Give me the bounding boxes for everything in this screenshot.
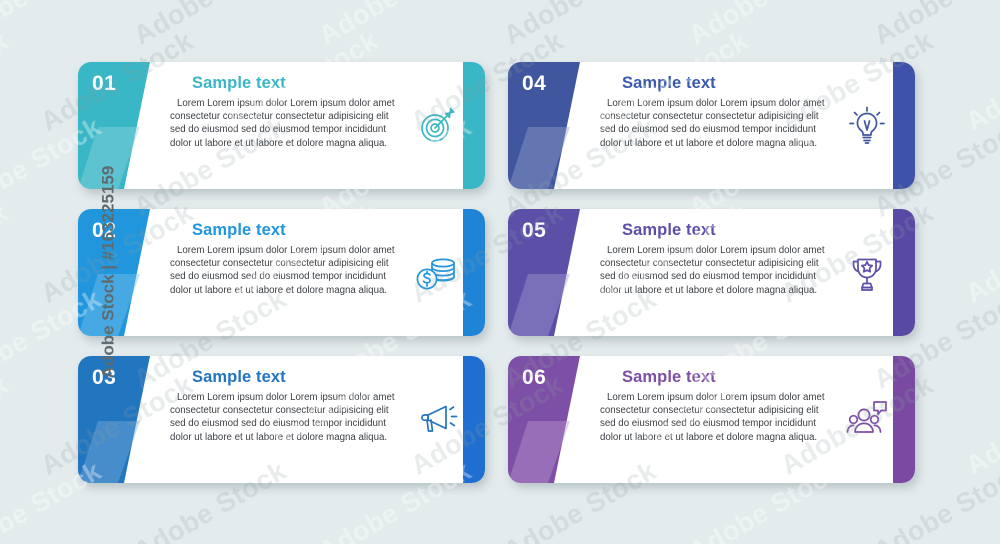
card-right-tab (893, 209, 915, 336)
card-surface: 03Sample textLorem Lorem ipsum dolor Lor… (78, 356, 485, 483)
card-body-line: sed do eiusmod sed do eiusmod tempor inc… (170, 123, 433, 136)
info-card-04[interactable]: 04Sample textLorem Lorem ipsum dolor Lor… (508, 62, 915, 189)
people-chat-icon (845, 398, 889, 442)
card-body-line: dolor ut labore et ut labore et dolore m… (600, 284, 863, 297)
card-title: Sample text (192, 74, 433, 93)
card-body-line: consectetur consectetur consectetur adip… (600, 110, 863, 123)
card-surface: 05Sample textLorem Lorem ipsum dolor Lor… (508, 209, 915, 336)
card-body-line: Lorem Lorem ipsum dolor Lorem ipsum dolo… (600, 244, 863, 257)
card-body: Lorem Lorem ipsum dolor Lorem ipsum dolo… (170, 97, 433, 150)
card-number: 05 (522, 219, 546, 243)
card-right-tab (463, 356, 485, 483)
card-body-line: consectetur consectetur consectetur adip… (600, 404, 863, 417)
card-title: Sample text (622, 221, 863, 240)
card-body-line: dolor ut labore et ut labore et dolore m… (170, 284, 433, 297)
card-body-line: dolor ut labore et ut labore et dolore m… (170, 137, 433, 150)
card-title: Sample text (192, 221, 433, 240)
card-content: Sample textLorem Lorem ipsum dolor Lorem… (170, 368, 433, 444)
card-content: Sample textLorem Lorem ipsum dolor Lorem… (600, 368, 863, 444)
card-number: 01 (92, 72, 116, 96)
card-body-line: consectetur consectetur consectetur adip… (170, 257, 433, 270)
card-body: Lorem Lorem ipsum dolor Lorem ipsum dolo… (170, 244, 433, 297)
card-body-line: sed do eiusmod sed do eiusmod tempor inc… (600, 123, 863, 136)
card-surface: 06Sample textLorem Lorem ipsum dolor Lor… (508, 356, 915, 483)
info-card-01[interactable]: 01Sample textLorem Lorem ipsum dolor Lor… (78, 62, 485, 189)
card-content: Sample textLorem Lorem ipsum dolor Lorem… (600, 74, 863, 150)
card-right-tab (893, 62, 915, 189)
card-body-line: sed do eiusmod sed do eiusmod tempor inc… (170, 270, 433, 283)
info-card-05[interactable]: 05Sample textLorem Lorem ipsum dolor Lor… (508, 209, 915, 336)
side-watermark-label: Adobe Stock | #163225159 (98, 166, 118, 379)
target-icon (415, 104, 459, 148)
infographic-board: 01Sample textLorem Lorem ipsum dolor Lor… (0, 0, 1000, 544)
megaphone-icon (415, 398, 459, 442)
card-body-line: dolor ut labore et ut labore et dolore m… (600, 431, 863, 444)
card-body: Lorem Lorem ipsum dolor Lorem ipsum dolo… (600, 97, 863, 150)
card-content: Sample textLorem Lorem ipsum dolor Lorem… (170, 74, 433, 150)
card-body-line: dolor ut labore et ut labore et dolore m… (170, 431, 433, 444)
card-content: Sample textLorem Lorem ipsum dolor Lorem… (170, 221, 433, 297)
card-body-line: sed do eiusmod sed do eiusmod tempor inc… (170, 417, 433, 430)
card-body-line: consectetur consectetur consectetur adip… (600, 257, 863, 270)
card-body-line: dolor ut labore et ut labore et dolore m… (600, 137, 863, 150)
card-number: 06 (522, 366, 546, 390)
card-body-line: sed do eiusmod sed do eiusmod tempor inc… (600, 270, 863, 283)
info-card-06[interactable]: 06Sample textLorem Lorem ipsum dolor Lor… (508, 356, 915, 483)
info-card-02[interactable]: 02Sample textLorem Lorem ipsum dolor Lor… (78, 209, 485, 336)
card-title: Sample text (192, 368, 433, 387)
card-body: Lorem Lorem ipsum dolor Lorem ipsum dolo… (170, 391, 433, 444)
card-surface: 04Sample textLorem Lorem ipsum dolor Lor… (508, 62, 915, 189)
card-right-tab (893, 356, 915, 483)
card-body-line: consectetur consectetur consectetur adip… (170, 110, 433, 123)
card-body-line: Lorem Lorem ipsum dolor Lorem ipsum dolo… (600, 391, 863, 404)
lightbulb-idea-icon (845, 104, 889, 148)
card-body-line: Lorem Lorem ipsum dolor Lorem ipsum dolo… (170, 244, 433, 257)
trophy-award-icon (845, 251, 889, 295)
card-surface: 02Sample textLorem Lorem ipsum dolor Lor… (78, 209, 485, 336)
card-body-line: Lorem Lorem ipsum dolor Lorem ipsum dolo… (170, 97, 433, 110)
card-body-line: Lorem Lorem ipsum dolor Lorem ipsum dolo… (600, 97, 863, 110)
card-title: Sample text (622, 74, 863, 93)
card-body-line: sed do eiusmod sed do eiusmod tempor inc… (600, 417, 863, 430)
card-number: 04 (522, 72, 546, 96)
info-card-03[interactable]: 03Sample textLorem Lorem ipsum dolor Lor… (78, 356, 485, 483)
card-body-line: consectetur consectetur consectetur adip… (170, 404, 433, 417)
card-body-line: Lorem Lorem ipsum dolor Lorem ipsum dolo… (170, 391, 433, 404)
coins-money-icon (415, 251, 459, 295)
card-body: Lorem Lorem ipsum dolor Lorem ipsum dolo… (600, 391, 863, 444)
card-right-tab (463, 62, 485, 189)
card-body: Lorem Lorem ipsum dolor Lorem ipsum dolo… (600, 244, 863, 297)
card-right-tab (463, 209, 485, 336)
card-content: Sample textLorem Lorem ipsum dolor Lorem… (600, 221, 863, 297)
card-title: Sample text (622, 368, 863, 387)
card-surface: 01Sample textLorem Lorem ipsum dolor Lor… (78, 62, 485, 189)
